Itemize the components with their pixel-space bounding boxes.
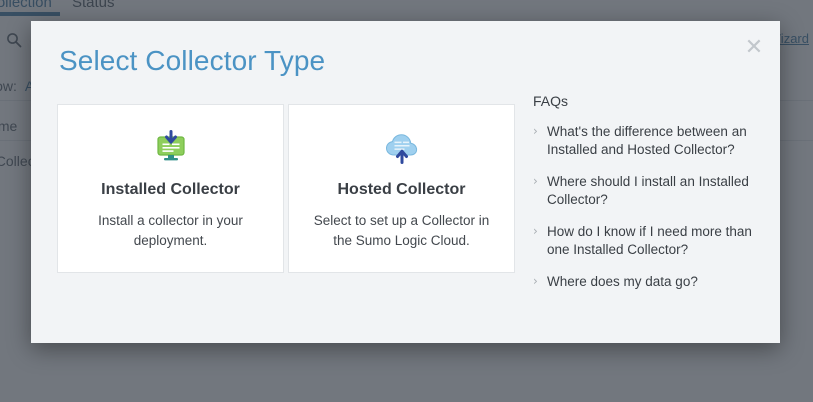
chevron-right-icon: › (533, 122, 538, 140)
faq-item[interactable]: › How do I know if I need more than one … (533, 223, 761, 259)
hosted-collector-title: Hosted Collector (289, 181, 514, 199)
faq-item-label: Where should I install an Installed Coll… (547, 174, 749, 207)
hosted-collector-description: Select to set up a Collector in the Sumo… (307, 211, 496, 251)
faq-heading: FAQs (533, 93, 761, 109)
installed-collector-card[interactable]: Installed Collector Install a collector … (57, 104, 284, 273)
dialog-body: Installed Collector Install a collector … (31, 83, 780, 343)
faq-item[interactable]: › Where should I install an Installed Co… (533, 173, 761, 209)
chevron-right-icon: › (533, 222, 538, 240)
select-collector-type-dialog: ✕ Select Collector Type Installed Collec… (31, 21, 780, 343)
installed-collector-description: Install a collector in your deployment. (76, 211, 265, 251)
hosted-collector-card[interactable]: Hosted Collector Select to set up a Coll… (288, 104, 515, 273)
chevron-right-icon: › (533, 272, 538, 290)
faq-item-label: How do I know if I need more than one In… (547, 224, 752, 257)
page-title: Select Collector Type (59, 45, 325, 77)
faq-item[interactable]: › What's the difference between an Insta… (533, 123, 761, 159)
chevron-right-icon: › (533, 172, 538, 190)
close-icon[interactable]: ✕ (740, 34, 768, 62)
cloud-upload-icon (289, 127, 514, 171)
faq-item-label: What's the difference between an Install… (547, 124, 747, 157)
monitor-download-icon (58, 127, 283, 171)
installed-collector-title: Installed Collector (58, 181, 283, 199)
faq-item-label: Where does my data go? (547, 274, 698, 289)
faq-item[interactable]: › Where does my data go? (533, 273, 761, 291)
faq-panel: FAQs › What's the difference between an … (533, 93, 761, 305)
